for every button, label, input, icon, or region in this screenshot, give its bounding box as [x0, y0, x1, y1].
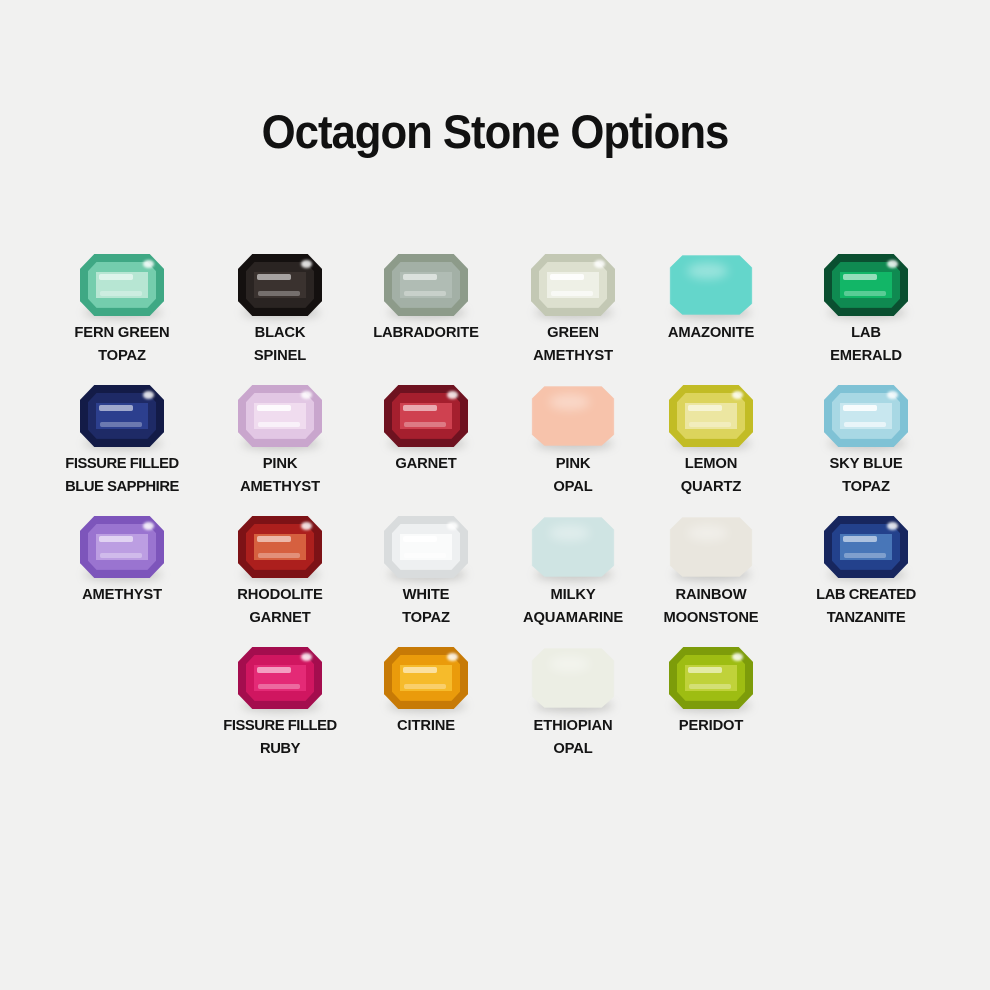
- octagon-gem-icon: [80, 254, 164, 316]
- octagon-gem-icon: [824, 254, 908, 316]
- gem-sparkle-icon: [594, 260, 605, 268]
- stone-label: FISSURE FILLED RUBY: [199, 715, 362, 760]
- gem-highlight-icon: [257, 667, 291, 673]
- gem-highlight-icon: [843, 536, 877, 542]
- stone-row: FISSURE FILLED RUBYCITRINEETHIOPIAN OPAL…: [0, 641, 990, 772]
- stone-label: AMAZONITE: [630, 322, 793, 345]
- gem-image[interactable]: [38, 510, 206, 584]
- stone-option[interactable]: AMAZONITE: [627, 248, 795, 345]
- gem-highlight-lower-icon: [844, 422, 886, 427]
- gem-highlight-lower-icon: [100, 291, 142, 296]
- gem-highlight-icon: [403, 405, 437, 411]
- stone-option[interactable]: GARNET: [342, 379, 510, 476]
- gem-highlight-lower-icon: [844, 291, 886, 296]
- gem-soft-highlight-icon: [549, 656, 589, 672]
- stone-label: LAB CREATED TANZANITE: [785, 584, 948, 629]
- stone-label: FISSURE FILLED BLUE SAPPHIRE: [41, 453, 204, 498]
- octagon-gem-icon: [384, 516, 468, 578]
- gem-highlight-icon: [403, 536, 437, 542]
- stone-option[interactable]: BLACK SPINEL: [196, 248, 364, 367]
- gem-image[interactable]: [342, 641, 510, 715]
- gem-image[interactable]: [38, 248, 206, 322]
- gem-sparkle-icon: [447, 522, 458, 530]
- octagon-gem-icon: [669, 647, 753, 709]
- gem-soft-highlight-icon: [687, 525, 727, 541]
- gem-highlight-lower-icon: [404, 422, 446, 427]
- gem-highlight-lower-icon: [689, 422, 731, 427]
- gem-soft-highlight-icon: [549, 394, 589, 410]
- stone-option[interactable]: SKY BLUE TOPAZ: [782, 379, 950, 498]
- gem-sparkle-icon: [301, 522, 312, 530]
- stone-label: CITRINE: [345, 715, 508, 738]
- gem-highlight-icon: [550, 274, 584, 280]
- octagon-gem-icon: [80, 516, 164, 578]
- stone-row: AMETHYSTRHODOLITE GARNETWHITE TOPAZMILKY…: [0, 510, 990, 641]
- stone-options-page: Octagon Stone Options FERN GREEN TOPAZBL…: [0, 0, 990, 990]
- octagon-gem-icon: [669, 516, 753, 578]
- octagon-gem-icon: [824, 385, 908, 447]
- gem-highlight-icon: [99, 536, 133, 542]
- octagon-gem-icon: [238, 385, 322, 447]
- stone-option[interactable]: PINK AMETHYST: [196, 379, 364, 498]
- gem-highlight-lower-icon: [404, 684, 446, 689]
- gem-highlight-icon: [843, 274, 877, 280]
- stone-label: WHITE TOPAZ: [345, 584, 508, 629]
- octagon-gem-icon: [669, 254, 753, 316]
- stone-option[interactable]: WHITE TOPAZ: [342, 510, 510, 629]
- gem-image[interactable]: [782, 248, 950, 322]
- gem-sparkle-icon: [887, 522, 898, 530]
- gem-image[interactable]: [627, 248, 795, 322]
- stone-label: LABRADORITE: [345, 322, 508, 345]
- gem-highlight-icon: [257, 405, 291, 411]
- octagon-gem-icon: [384, 385, 468, 447]
- octagon-gem-icon: [531, 254, 615, 316]
- gem-image[interactable]: [627, 379, 795, 453]
- octagon-gem-icon: [531, 516, 615, 578]
- stone-label: LAB EMERALD: [785, 322, 948, 367]
- stone-option[interactable]: CITRINE: [342, 641, 510, 738]
- octagon-gem-icon: [80, 385, 164, 447]
- gem-sparkle-icon: [887, 391, 898, 399]
- gem-image[interactable]: [38, 379, 206, 453]
- octagon-gem-icon: [824, 516, 908, 578]
- stone-option[interactable]: FISSURE FILLED BLUE SAPPHIRE: [38, 379, 206, 498]
- stone-row: FISSURE FILLED BLUE SAPPHIREPINK AMETHYS…: [0, 379, 990, 510]
- stone-row: FERN GREEN TOPAZBLACK SPINELLABRADORITEG…: [0, 248, 990, 379]
- octagon-gem-icon: [384, 647, 468, 709]
- stone-label: AMETHYST: [41, 584, 204, 607]
- gem-image[interactable]: [782, 510, 950, 584]
- stone-option[interactable]: FERN GREEN TOPAZ: [38, 248, 206, 367]
- gem-sparkle-icon: [143, 260, 154, 268]
- gem-highlight-lower-icon: [258, 684, 300, 689]
- gem-soft-highlight-icon: [687, 263, 727, 279]
- gem-sparkle-icon: [887, 260, 898, 268]
- octagon-gem-icon: [384, 254, 468, 316]
- stone-label: SKY BLUE TOPAZ: [785, 453, 948, 498]
- gem-highlight-icon: [843, 405, 877, 411]
- gem-image[interactable]: [196, 248, 364, 322]
- gem-highlight-icon: [99, 274, 133, 280]
- gem-image[interactable]: [627, 641, 795, 715]
- gem-highlight-icon: [688, 667, 722, 673]
- stone-label: BLACK SPINEL: [199, 322, 362, 367]
- octagon-gem-icon: [669, 385, 753, 447]
- octagon-gem-icon: [238, 254, 322, 316]
- gem-highlight-lower-icon: [100, 422, 142, 427]
- gem-highlight-lower-icon: [258, 422, 300, 427]
- stone-option[interactable]: LAB CREATED TANZANITE: [782, 510, 950, 629]
- gem-highlight-icon: [257, 536, 291, 542]
- stone-option[interactable]: FISSURE FILLED RUBY: [196, 641, 364, 760]
- gem-soft-highlight-icon: [549, 525, 589, 541]
- octagon-gem-icon: [531, 385, 615, 447]
- stone-option[interactable]: PERIDOT: [627, 641, 795, 738]
- page-title: Octagon Stone Options: [35, 104, 956, 159]
- gem-sparkle-icon: [301, 391, 312, 399]
- gem-image[interactable]: [627, 510, 795, 584]
- gem-highlight-lower-icon: [258, 291, 300, 296]
- gem-highlight-lower-icon: [689, 684, 731, 689]
- stone-grid: FERN GREEN TOPAZBLACK SPINELLABRADORITEG…: [0, 248, 990, 772]
- stone-option[interactable]: LEMON QUARTZ: [627, 379, 795, 498]
- stone-option[interactable]: RHODOLITE GARNET: [196, 510, 364, 629]
- stone-label: PINK AMETHYST: [199, 453, 362, 498]
- gem-highlight-lower-icon: [258, 553, 300, 558]
- gem-image[interactable]: [342, 248, 510, 322]
- gem-sparkle-icon: [143, 391, 154, 399]
- gem-image[interactable]: [782, 379, 950, 453]
- gem-highlight-icon: [257, 274, 291, 280]
- stone-option[interactable]: RAINBOW MOONSTONE: [627, 510, 795, 629]
- gem-image[interactable]: [196, 379, 364, 453]
- gem-highlight-icon: [688, 405, 722, 411]
- gem-highlight-icon: [403, 274, 437, 280]
- stone-label: PERIDOT: [630, 715, 793, 738]
- gem-sparkle-icon: [143, 522, 154, 530]
- stone-label: FERN GREEN TOPAZ: [41, 322, 204, 367]
- stone-option[interactable]: AMETHYST: [38, 510, 206, 607]
- gem-image[interactable]: [342, 510, 510, 584]
- octagon-gem-icon: [531, 647, 615, 709]
- gem-sparkle-icon: [732, 653, 743, 661]
- gem-sparkle-icon: [301, 653, 312, 661]
- octagon-gem-icon: [238, 647, 322, 709]
- gem-highlight-icon: [99, 405, 133, 411]
- stone-label: RHODOLITE GARNET: [199, 584, 362, 629]
- stone-label: GARNET: [345, 453, 508, 476]
- gem-highlight-icon: [403, 667, 437, 673]
- gem-sparkle-icon: [732, 391, 743, 399]
- octagon-gem-icon: [238, 516, 322, 578]
- gem-highlight-lower-icon: [404, 553, 446, 558]
- gem-highlight-lower-icon: [844, 553, 886, 558]
- gem-image[interactable]: [196, 510, 364, 584]
- gem-image[interactable]: [342, 379, 510, 453]
- gem-sparkle-icon: [301, 260, 312, 268]
- stone-option[interactable]: LABRADORITE: [342, 248, 510, 345]
- gem-highlight-lower-icon: [100, 553, 142, 558]
- stone-option[interactable]: LAB EMERALD: [782, 248, 950, 367]
- gem-highlight-lower-icon: [404, 291, 446, 296]
- gem-highlight-lower-icon: [551, 291, 593, 296]
- stone-label: RAINBOW MOONSTONE: [630, 584, 793, 629]
- gem-image[interactable]: [196, 641, 364, 715]
- stone-label: LEMON QUARTZ: [630, 453, 793, 498]
- gem-sparkle-icon: [447, 653, 458, 661]
- gem-sparkle-icon: [447, 391, 458, 399]
